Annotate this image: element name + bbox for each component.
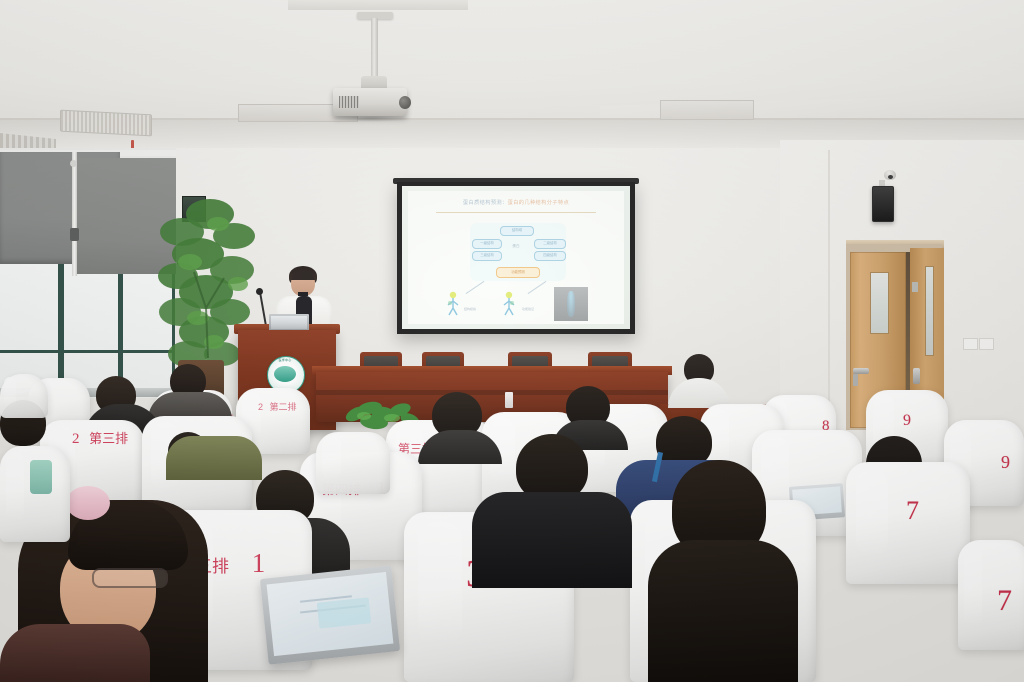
slide-title: 蛋白质结构预测：蛋白的几种结构分子特点: [408, 199, 624, 206]
slide-node-top: 结构域: [500, 226, 534, 236]
slide-figure-right: [502, 291, 516, 317]
slide-annotation-left: 结构模拟: [464, 307, 476, 311]
water-bottle-icon: [505, 392, 513, 408]
door-push-plate: [912, 282, 918, 292]
projector-pole: [371, 18, 378, 80]
door-vision-panel: [925, 266, 934, 356]
ceiling-edge-line: [0, 118, 1024, 120]
slide-node-center: 蛋白: [504, 243, 528, 251]
seat-number: 9: [1001, 452, 1010, 473]
blind-pin-icon: [70, 160, 77, 167]
row-seat-number: 1: [252, 548, 266, 578]
door-latch-icon[interactable]: [853, 374, 858, 386]
wall-outlet-icon[interactable]: [963, 338, 978, 350]
slide-divider: [436, 212, 596, 213]
window-mullion: [118, 258, 123, 392]
conference-room-photo: 蛋白质结构预测：蛋白的几种结构分子特点 结构域 一级结构 二级结构 三级结构 四…: [0, 0, 1024, 682]
row-text: 第二排: [270, 402, 297, 412]
cup-icon: [30, 460, 52, 494]
ceiling-panel: [660, 100, 754, 120]
dome-camera-lens: [888, 175, 893, 179]
slide-arrow-right: [528, 281, 547, 294]
foreground-person-shoulders: [0, 624, 150, 682]
slide-arrow-left: [466, 281, 485, 294]
emblem-inner-shape: [274, 366, 296, 382]
microphone-icon: [256, 288, 263, 295]
ceiling-panel: [288, 0, 468, 10]
wall-outlet-icon[interactable]: [979, 338, 994, 350]
row-label: 2 第三排: [72, 428, 128, 448]
slide-figure-left: [446, 291, 460, 317]
door-vision-panel: [870, 272, 889, 334]
row-text: 第三排: [89, 431, 128, 446]
chair[interactable]: [0, 374, 48, 418]
slide-annotation-right: 功能验证: [522, 307, 534, 311]
slide-node-left-lower: 三级结构: [472, 251, 502, 261]
audience-shoulders: [472, 492, 632, 588]
window-transom: [0, 350, 172, 353]
wall-speaker-icon: [872, 186, 894, 222]
hair-scrunchie-icon: [66, 486, 110, 520]
seat-number: 7: [997, 584, 1012, 618]
laptop-screen-card: [317, 597, 371, 628]
blind-pull-handle[interactable]: [70, 228, 79, 241]
seat-number: 7: [906, 496, 919, 526]
seat-number: 9: [903, 412, 911, 430]
projector-lens-icon: [399, 96, 411, 109]
eyeglasses-icon: [92, 568, 168, 588]
slide-node-highlight: 功能预测: [496, 267, 540, 278]
blind-divider: [72, 152, 77, 276]
slide-node-left-upper: 一级结构: [472, 239, 502, 249]
slide-image-figure: [567, 291, 575, 317]
audience-shoulders: [648, 540, 798, 682]
slide-node-right-upper: 二级结构: [534, 239, 566, 249]
presenter-laptop-screen: [271, 316, 307, 329]
slide-title-main: 蛋白质结构预测：: [463, 200, 508, 206]
door-handle-icon[interactable]: [913, 368, 920, 384]
chair[interactable]: [316, 432, 390, 494]
slide-node-right-lower: 四级结构: [534, 251, 566, 261]
slide-title-accent: 蛋白的几种结构分子特点: [508, 200, 569, 206]
audience-shoulders: [166, 436, 262, 480]
row-seat-number: 2: [258, 402, 263, 412]
row-seat-number: 2: [72, 431, 80, 447]
emblem-label: 医学中心: [267, 358, 303, 362]
window-mullion: [58, 258, 64, 392]
chair[interactable]: [958, 540, 1024, 650]
projector-vent: [339, 96, 359, 108]
slide-content: 蛋白质结构预测：蛋白的几种结构分子特点 结构域 一级结构 二级结构 三级结构 四…: [408, 191, 624, 324]
row-label: 2 第二排: [258, 400, 297, 413]
